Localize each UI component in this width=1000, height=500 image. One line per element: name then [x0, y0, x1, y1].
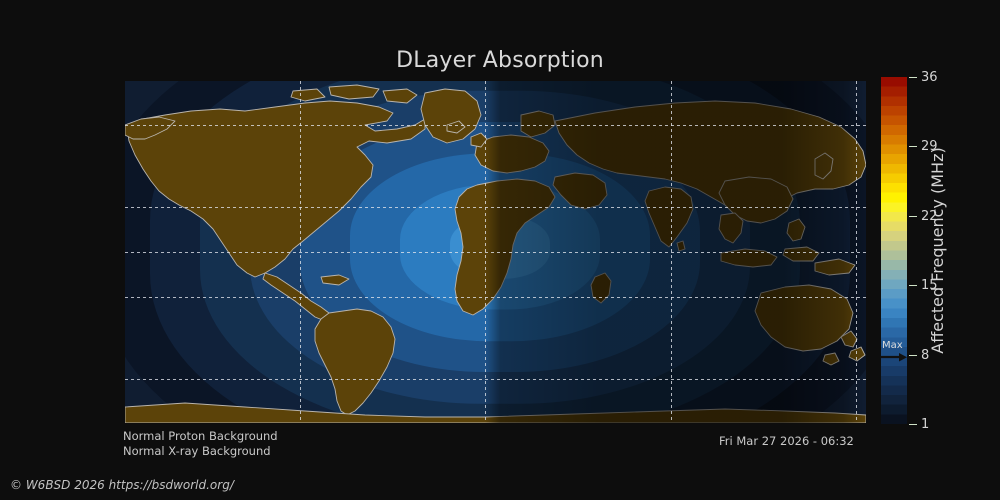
world-map-plot[interactable]: [125, 81, 866, 423]
landmass-layer: [125, 81, 866, 423]
colorbar[interactable]: Max 3629221581: [881, 77, 907, 424]
colorbar-gradient: [881, 77, 907, 424]
page-title: DLayer Absorption: [0, 48, 1000, 73]
colorbar-tick-22: [909, 216, 917, 217]
xray-status: Normal X-ray Background: [123, 444, 278, 459]
status-block: Normal Proton Background Normal X-ray Ba…: [123, 429, 278, 459]
colorbar-tick-36: [909, 77, 917, 78]
dlayer-absorption-map: DLayer Absorption: [0, 0, 1000, 500]
colorbar-max-label: Max: [882, 340, 903, 351]
colorbar-tick-15: [909, 285, 917, 286]
copyright: © W6BSD 2026 https://bsdworld.org/: [10, 478, 234, 492]
colorbar-max-marker: Max: [881, 342, 907, 364]
max-arrow-icon: [881, 353, 907, 362]
proton-status: Normal Proton Background: [123, 429, 278, 444]
colorbar-tick-1: [909, 424, 917, 425]
colorbar-axis-label: Affected Frequency (MHz): [925, 77, 951, 424]
timestamp: Fri Mar 27 2026 - 06:32: [719, 434, 854, 448]
colorbar-tick-29: [909, 146, 917, 147]
colorbar-tick-label-1: 1: [921, 424, 929, 425]
colorbar-tick-8: [909, 355, 917, 356]
